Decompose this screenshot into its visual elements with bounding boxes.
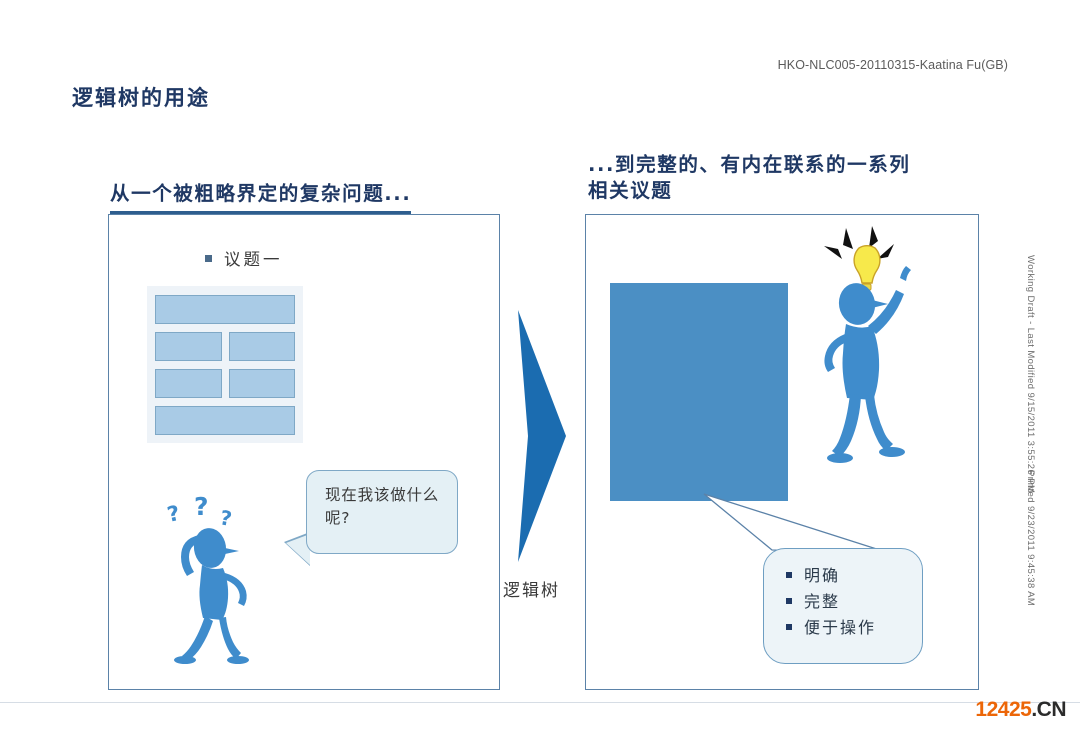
watermark-number: 12425 — [975, 698, 1031, 721]
right-column-heading: ...到完整的、有内在联系的一系列 相关议题 — [588, 152, 968, 203]
grid-row — [155, 295, 295, 324]
list-item: 明确 — [786, 563, 922, 589]
bullet-square-icon — [786, 624, 792, 630]
grid-cell — [229, 369, 296, 398]
svg-text:?: ? — [218, 505, 234, 531]
grid-cell — [155, 406, 295, 435]
right-heading-line-2: 相关议题 — [588, 178, 968, 204]
idea-person-lightbulb-icon — [802, 222, 928, 477]
page-title: 逻辑树的用途 — [72, 82, 210, 112]
bullet-square-icon — [786, 572, 792, 578]
bullet-square-icon — [205, 255, 212, 262]
footer-divider — [0, 702, 1080, 703]
watermark: 12425.CN — [975, 698, 1066, 722]
printed-note: Printed 9/23/2011 9:45:38 AM — [1025, 470, 1036, 606]
issue-label: 议题一 — [205, 246, 283, 270]
speech-bubble: 现在我该做什么呢? — [306, 470, 458, 554]
grid-row — [155, 369, 295, 398]
grid-cell — [155, 369, 222, 398]
bullet-square-icon — [786, 598, 792, 604]
attributes-callout: 明确 完整 便于操作 — [763, 548, 923, 664]
arrow-label: 逻辑树 — [503, 576, 560, 601]
callout-list: 明确 完整 便于操作 — [786, 563, 922, 641]
right-chevron-arrow-icon — [504, 310, 578, 562]
callout-item-text: 明确 — [804, 566, 840, 585]
document-code: HKO-NLC005-20110315-Kaatina Fu(GB) — [778, 58, 1008, 72]
svg-text:?: ? — [194, 492, 209, 521]
grid-row — [155, 332, 295, 361]
issue-grid — [147, 286, 303, 443]
grid-row — [155, 406, 295, 435]
left-column-heading: 从一个被粗略界定的复杂问题... — [110, 181, 411, 214]
solid-blue-block — [610, 283, 788, 501]
slide-canvas: HKO-NLC005-20110315-Kaatina Fu(GB) 逻辑树的用… — [0, 0, 1080, 733]
watermark-suffix: .CN — [1031, 698, 1066, 721]
svg-text:?: ? — [165, 501, 182, 527]
grid-cell — [155, 295, 295, 324]
right-heading-line-1: ...到完整的、有内在联系的一系列 — [588, 152, 968, 178]
working-draft-note: Working Draft - Last Modified 9/15/2011 … — [1025, 255, 1036, 493]
confused-person-icon: ? ? ? — [163, 492, 293, 667]
callout-item-text: 完整 — [804, 592, 840, 611]
list-item: 便于操作 — [786, 615, 922, 641]
grid-cell — [229, 332, 296, 361]
list-item: 完整 — [786, 589, 922, 615]
grid-cell — [155, 332, 222, 361]
callout-item-text: 便于操作 — [804, 618, 876, 637]
issue-label-text: 议题一 — [224, 250, 283, 269]
